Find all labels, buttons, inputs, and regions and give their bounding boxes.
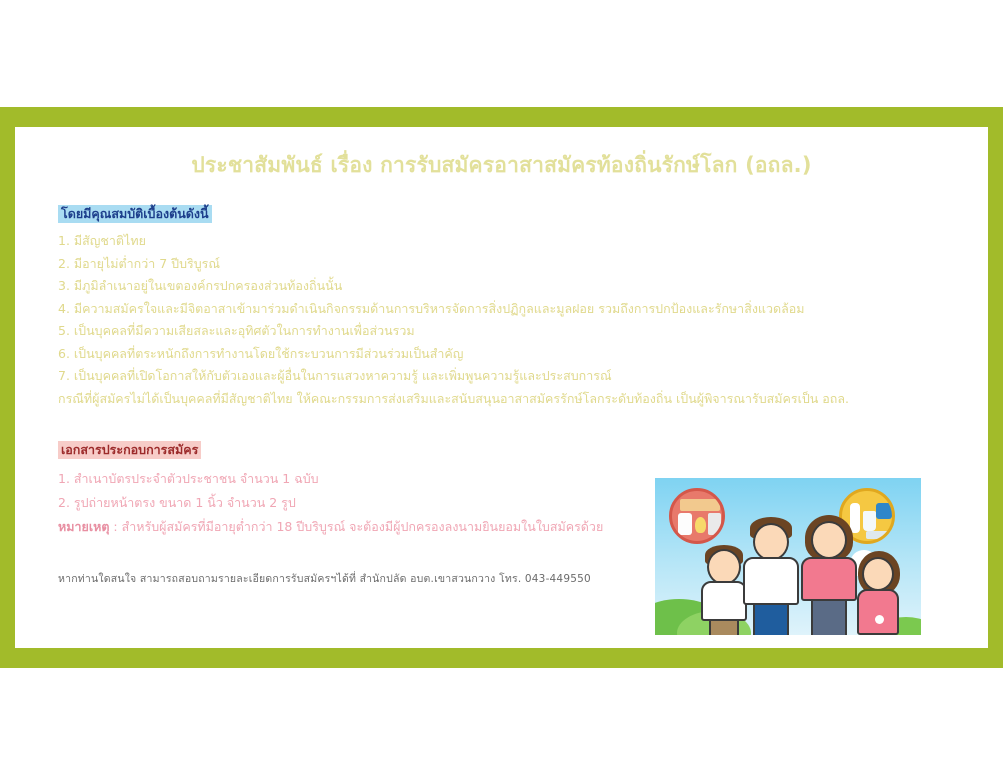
remark-label: หมายเหตุ (58, 519, 109, 534)
list-item: 1. มีสัญชาติไทย (58, 230, 958, 253)
list-item: 5. เป็นบุคคลที่มีความเสียสละและอุทิศตัวใ… (58, 320, 958, 343)
documents-remark: หมายเหตุ : สำหรับผู้สมัครที่มีอายุต่ำกว่… (58, 515, 678, 539)
page-title: ประชาสัมพันธ์ เรื่อง การรับสมัครอาสาสมัค… (15, 149, 988, 182)
documents-section: เอกสารประกอบการสมัคร 1. สำเนาบัตรประจำตั… (58, 439, 678, 539)
qualifications-heading: โดยมีคุณสมบัติเบื้องต้นดังนี้ (58, 205, 212, 223)
qualifications-note: กรณีที่ผู้สมัครไม่ได้เป็นบุคคลที่มีสัญชา… (58, 388, 958, 411)
person-girl (851, 531, 905, 635)
badge-shape (876, 503, 892, 519)
torso-shape (743, 557, 799, 605)
legs-shape (709, 619, 739, 635)
poster-page: ประชาสัมพันธ์ เรื่อง การรับสมัครอาสาสมัค… (0, 0, 1003, 775)
list-item: 2. มีอายุไม่ต่ำกว่า 7 ปีบริบูรณ์ (58, 253, 958, 276)
list-item: 2. รูปถ่ายหน้าตรง ขนาด 1 นิ้ว จำนวน 2 รู… (58, 491, 678, 515)
documents-heading: เอกสารประกอบการสมัคร (58, 441, 201, 459)
list-item: 4. มีความสมัครใจและมีจิตอาสาเข้ามาร่วมดำ… (58, 298, 958, 321)
torso-shape (857, 589, 899, 635)
list-item: 1. สำเนาบัตรประจำตัวประชาชน จำนวน 1 ฉบับ (58, 467, 678, 491)
documents-list: 1. สำเนาบัตรประจำตัวประชาชน จำนวน 1 ฉบับ… (58, 467, 678, 539)
badge-shape (680, 499, 720, 511)
torso-shape (801, 557, 857, 601)
poster-canvas: ประชาสัมพันธ์ เรื่อง การรับสมัครอาสาสมัค… (15, 127, 988, 648)
badge-shape (863, 511, 876, 531)
head-shape (707, 549, 741, 585)
legs-shape (753, 603, 789, 635)
head-shape (862, 557, 894, 591)
head-shape (753, 523, 789, 561)
remark-text: : สำหรับผู้สมัครที่มีอายุต่ำกว่า 18 ปีบร… (109, 519, 603, 534)
badge-shape (678, 513, 692, 535)
qualifications-list: 1. มีสัญชาติไทย 2. มีอายุไม่ต่ำกว่า 7 ปี… (58, 230, 958, 410)
list-item: 6. เป็นบุคคลที่ตระหนักถึงการทำงานโดยใช้ก… (58, 343, 958, 366)
person-father (737, 507, 803, 635)
shirt-emblem (875, 615, 884, 624)
list-item: 7. เป็นบุคคลที่เปิดโอกาสให้กับตัวเองและผ… (58, 365, 958, 388)
list-item: 3. มีภูมิลำเนาอยู่ในเขตองค์กรปกครองส่วนท… (58, 275, 958, 298)
contact-info: หากท่านใดสนใจ สามารถสอบถามรายละเอียดการร… (58, 570, 591, 587)
qualifications-section: โดยมีคุณสมบัติเบื้องต้นดังนี้ 1. มีสัญชา… (58, 203, 958, 410)
legs-shape (811, 599, 847, 635)
family-recycling-illustration (655, 478, 921, 635)
head-shape (811, 521, 847, 559)
